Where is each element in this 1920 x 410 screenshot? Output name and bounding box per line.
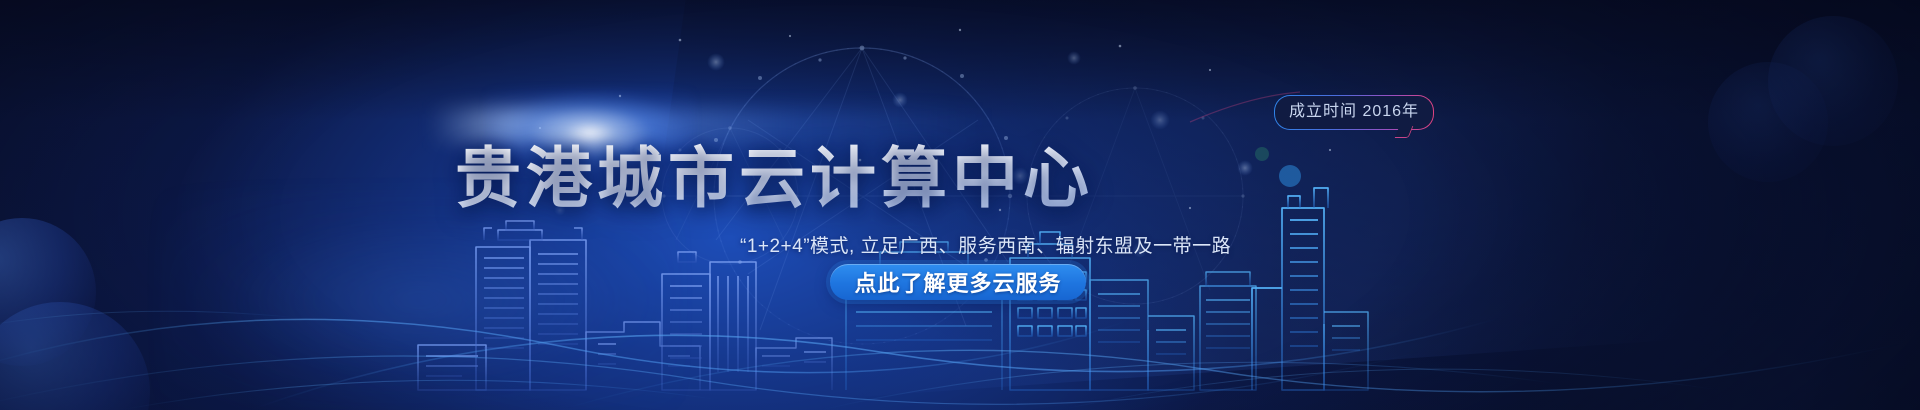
badge-tail-icon — [1395, 126, 1414, 138]
established-year-badge: 成立时间 2016年 — [1274, 95, 1434, 130]
learn-more-cloud-services-button[interactable]: 点此了解更多云服务 — [830, 264, 1086, 300]
banner-subtitle: “1+2+4”模式, 立足广西、服务西南、辐射东盟及一带一路 — [740, 235, 1231, 259]
banner-content: 贵港城市云计算中心 成立时间 2016年 “1+2+4”模式, 立足广西、服务西… — [0, 0, 1920, 410]
page-title: 贵港城市云计算中心 — [455, 142, 1115, 214]
established-year-badge-label: 成立时间 2016年 — [1289, 103, 1419, 120]
hero-banner: 贵港城市云计算中心 成立时间 2016年 “1+2+4”模式, 立足广西、服务西… — [0, 0, 1920, 410]
